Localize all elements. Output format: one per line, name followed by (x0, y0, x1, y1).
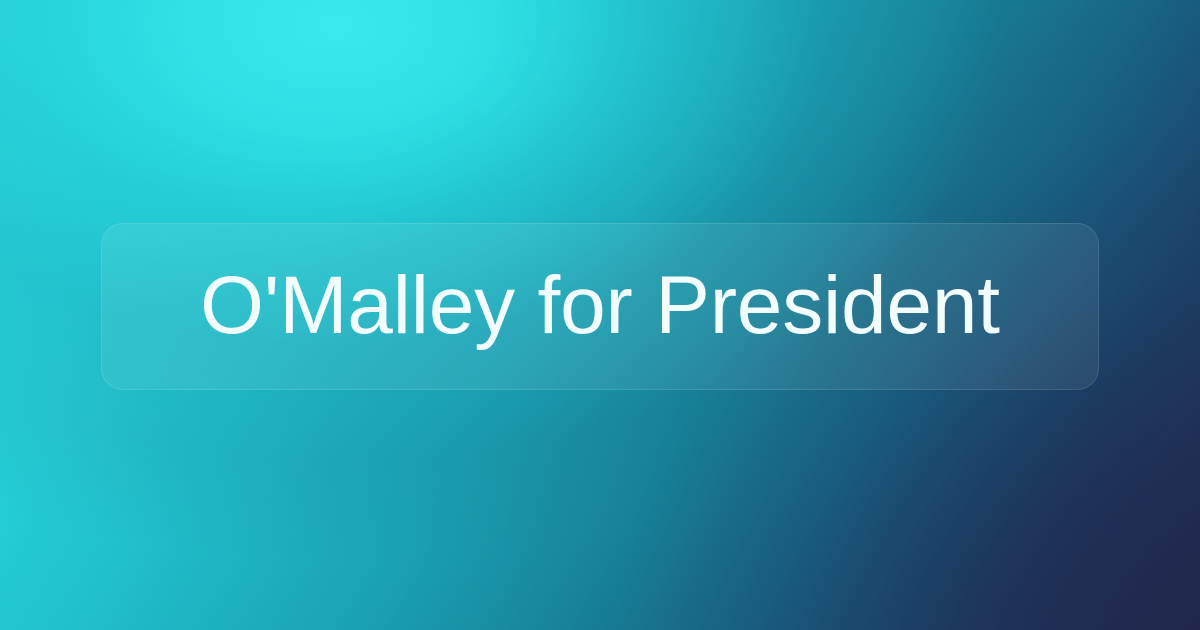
social-share-card: O'Malley for President (0, 0, 1200, 630)
page-title: O'Malley for President (200, 263, 1000, 350)
title-plate: O'Malley for President (101, 223, 1099, 390)
title-card-layer: O'Malley for President (0, 0, 1200, 630)
